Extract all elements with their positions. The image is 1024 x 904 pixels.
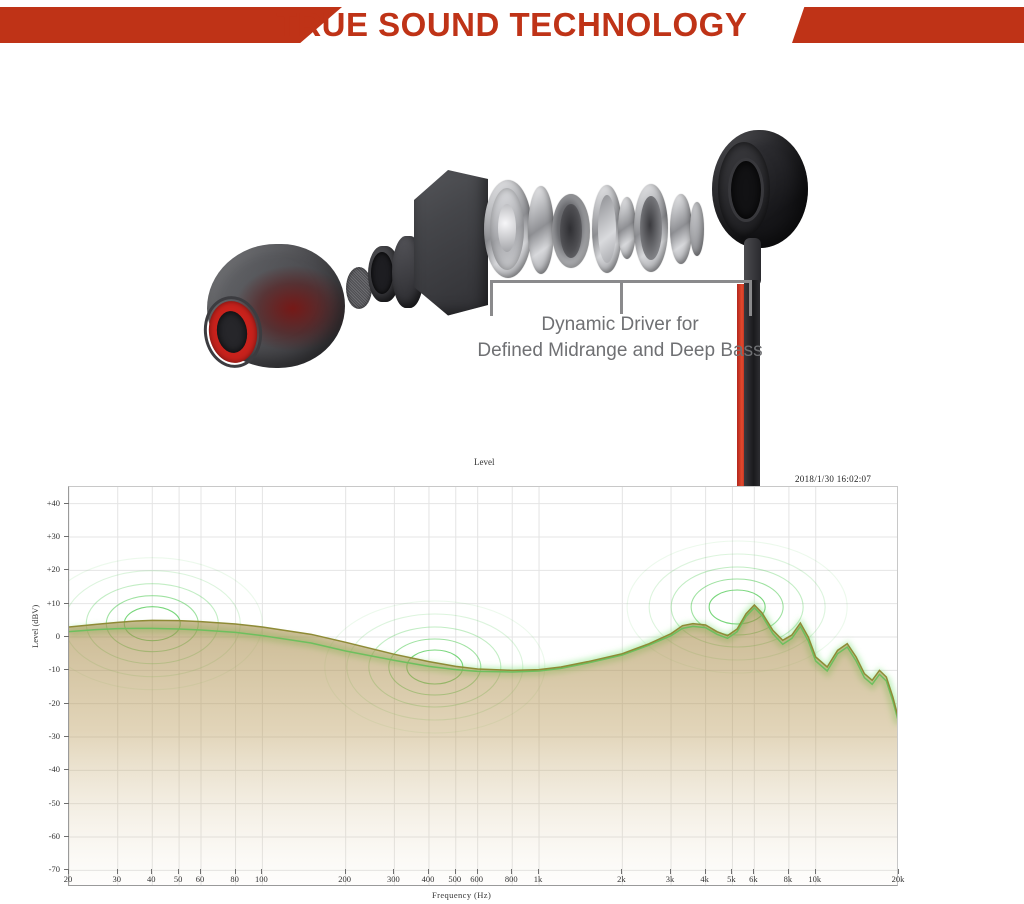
x-axis-tick-label: 100 xyxy=(249,874,273,884)
x-axis-tick-label: 2k xyxy=(609,874,633,884)
page-banner: TRUE SOUND TECHNOLOGY xyxy=(0,0,1024,52)
y-axis-tick-label: -70 xyxy=(34,864,60,874)
x-axis-tick xyxy=(345,869,346,874)
driver-caption-line-1: Dynamic Driver for xyxy=(430,312,810,338)
y-axis-tick xyxy=(64,703,69,704)
x-axis-tick xyxy=(705,869,706,874)
x-axis-tick-label: 500 xyxy=(443,874,467,884)
y-axis-tick xyxy=(64,836,69,837)
y-axis-tick xyxy=(64,569,69,570)
driver-callout-caption: Dynamic Driver for Defined Midrange and … xyxy=(430,312,810,364)
x-axis-tick-label: 20k xyxy=(886,874,910,884)
cable-strain-relief xyxy=(744,238,761,286)
y-axis-tick-label: -20 xyxy=(34,698,60,708)
chart-y-axis-title: Level (dBV) xyxy=(30,605,40,648)
y-axis-tick xyxy=(64,536,69,537)
driver-callout-stem xyxy=(620,280,623,314)
x-axis-tick-label: 30 xyxy=(105,874,129,884)
driver-caption-line-2: Defined Midrange and Deep Bass xyxy=(430,338,810,364)
x-axis-tick xyxy=(117,869,118,874)
y-axis-tick-label: -40 xyxy=(34,764,60,774)
x-axis-tick xyxy=(511,869,512,874)
y-axis-tick-label: +40 xyxy=(34,498,60,508)
x-axis-tick xyxy=(178,869,179,874)
x-axis-tick-label: 80 xyxy=(223,874,247,884)
x-axis-tick xyxy=(898,869,899,874)
y-axis-tick xyxy=(64,736,69,737)
y-axis-tick xyxy=(64,636,69,637)
chart-timestamp: 2018/1/30 16:02:07 xyxy=(795,474,871,484)
page-title: TRUE SOUND TECHNOLOGY xyxy=(0,0,1024,50)
x-axis-tick-label: 50 xyxy=(166,874,190,884)
x-axis-tick xyxy=(815,869,816,874)
y-axis-tick xyxy=(64,803,69,804)
product-infographic-page: TRUE SOUND TECHNOLOGY xyxy=(0,0,1024,904)
driver-back-plate-inner xyxy=(640,196,662,260)
sound-nozzle-bore xyxy=(371,252,393,294)
x-axis-tick-label: 10k xyxy=(803,874,827,884)
y-axis-tick-label: +30 xyxy=(34,531,60,541)
x-axis-tick-label: 8k xyxy=(776,874,800,884)
chart-curves xyxy=(69,487,898,886)
driver-pole-piece xyxy=(498,204,516,252)
driver-voice-coil xyxy=(598,195,616,263)
y-axis-tick xyxy=(64,503,69,504)
chart-title: Level xyxy=(474,457,495,467)
x-axis-tick xyxy=(455,869,456,874)
x-axis-tick-label: 5k xyxy=(719,874,743,884)
driver-terminal-disc xyxy=(690,202,704,256)
frequency-response-chart: Level 2018/1/30 16:02:07 xyxy=(0,452,1024,904)
front-housing xyxy=(414,167,488,317)
x-axis-tick-label: 400 xyxy=(416,874,440,884)
earphone-exploded-diagram: Dynamic Driver for Defined Midrange and … xyxy=(0,52,1024,452)
x-axis-tick-label: 800 xyxy=(499,874,523,884)
x-axis-tick-label: 1k xyxy=(526,874,550,884)
y-axis-tick xyxy=(64,603,69,604)
x-axis-tick-label: 600 xyxy=(465,874,489,884)
rear-housing-cavity xyxy=(728,158,764,222)
x-axis-tick-label: 40 xyxy=(139,874,163,884)
x-axis-tick-label: 3k xyxy=(658,874,682,884)
x-axis-tick xyxy=(68,869,69,874)
driver-spacer-ring xyxy=(528,186,554,274)
x-axis-tick-label: 6k xyxy=(741,874,765,884)
y-axis-tick xyxy=(64,669,69,670)
y-axis-tick xyxy=(64,769,69,770)
x-axis-tick xyxy=(788,869,789,874)
chart-x-axis-title: Frequency (Hz) xyxy=(432,890,491,900)
x-axis-tick xyxy=(235,869,236,874)
x-axis-tick-label: 4k xyxy=(693,874,717,884)
x-axis-tick xyxy=(261,869,262,874)
y-axis-tick-label: -10 xyxy=(34,664,60,674)
y-axis-tick-label: -60 xyxy=(34,831,60,841)
x-axis-tick xyxy=(151,869,152,874)
chart-plot-area: Bass: Can reach 20Hz and achieve deep ba… xyxy=(68,486,898,886)
x-axis-tick xyxy=(621,869,622,874)
y-axis-tick-label: -50 xyxy=(34,798,60,808)
x-axis-tick-label: 20 xyxy=(56,874,80,884)
y-axis-tick-label: +20 xyxy=(34,564,60,574)
x-axis-tick xyxy=(428,869,429,874)
y-axis-tick-label: -30 xyxy=(34,731,60,741)
x-axis-tick xyxy=(538,869,539,874)
x-axis-tick xyxy=(477,869,478,874)
x-axis-tick-label: 300 xyxy=(381,874,405,884)
x-axis-tick xyxy=(200,869,201,874)
x-axis-tick-label: 60 xyxy=(188,874,212,884)
x-axis-tick xyxy=(753,869,754,874)
x-axis-tick xyxy=(670,869,671,874)
x-axis-tick xyxy=(393,869,394,874)
driver-diaphragm-dome xyxy=(560,204,582,258)
x-axis-tick xyxy=(731,869,732,874)
driver-vent-ring xyxy=(670,194,692,264)
x-axis-tick-label: 200 xyxy=(333,874,357,884)
